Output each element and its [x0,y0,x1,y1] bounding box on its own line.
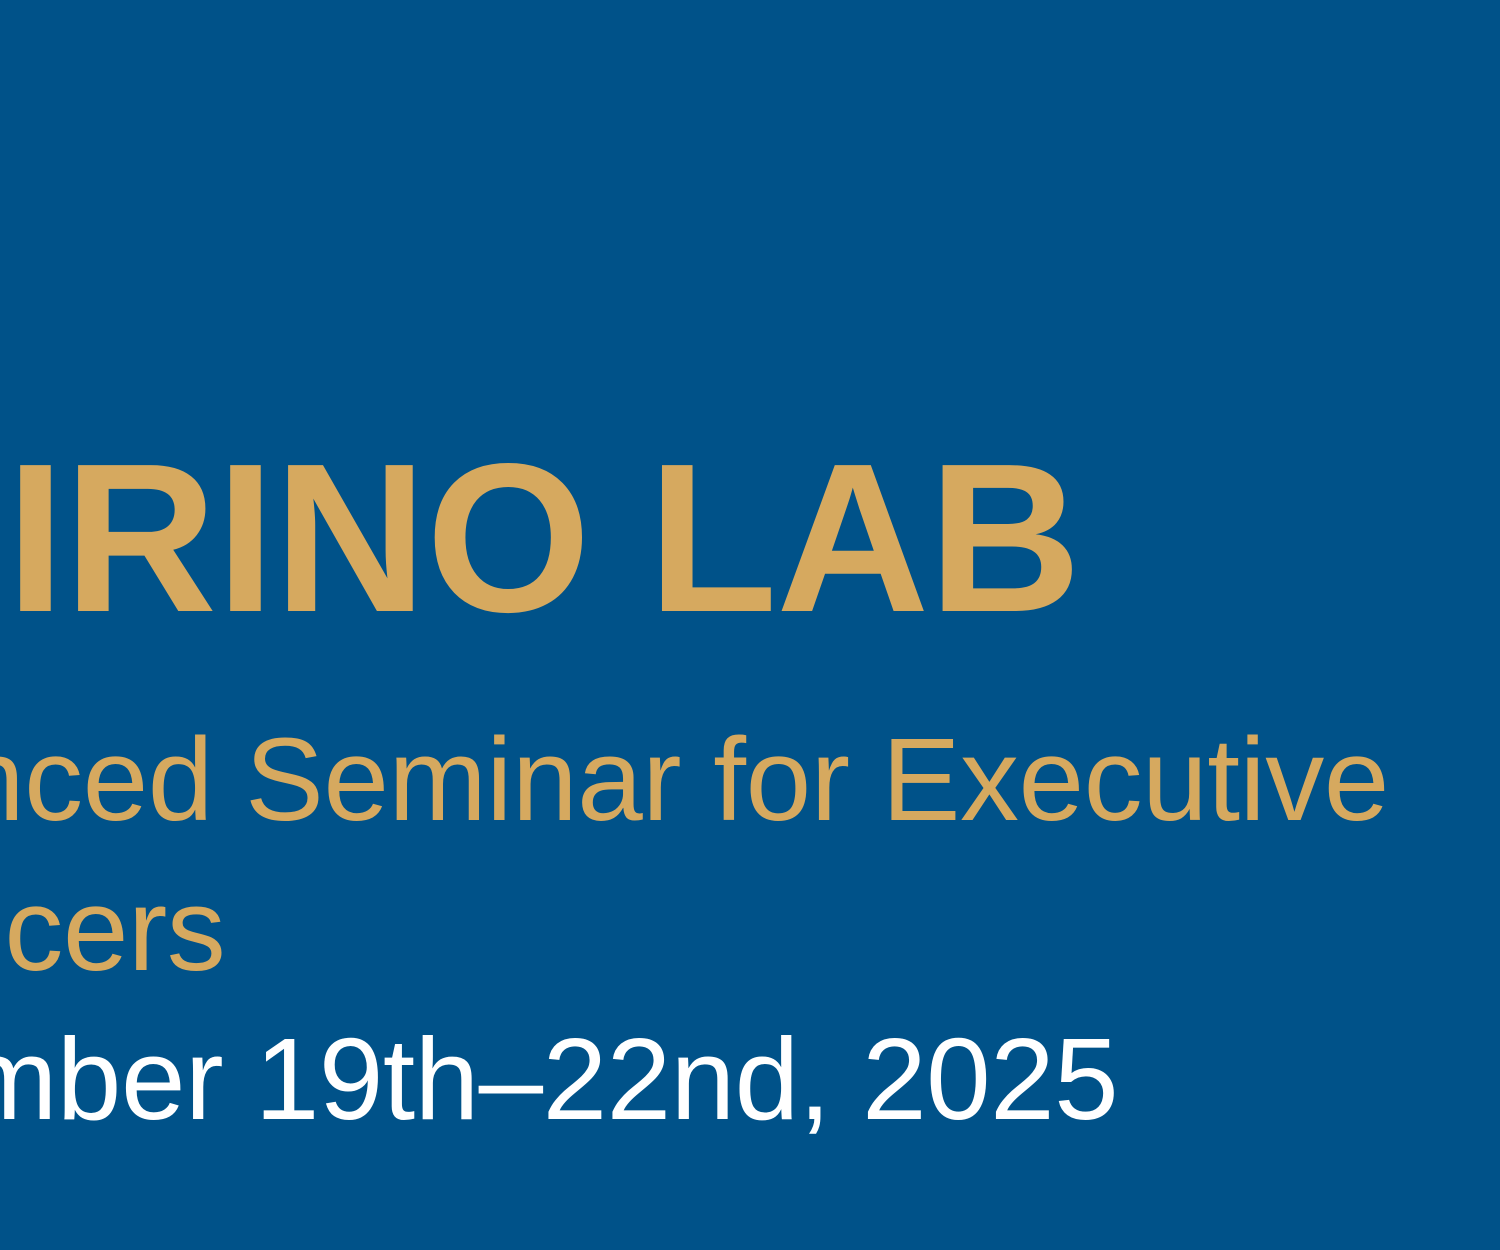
banner-subtitle: Advanced Seminar for Executive Producers [0,706,1500,1006]
event-banner: QUIRINO LAB Advanced Seminar for Executi… [0,0,1500,1250]
page-title: QUIRINO LAB [0,432,1081,644]
event-date: December 19th–22nd, 2025 [0,1013,1118,1146]
